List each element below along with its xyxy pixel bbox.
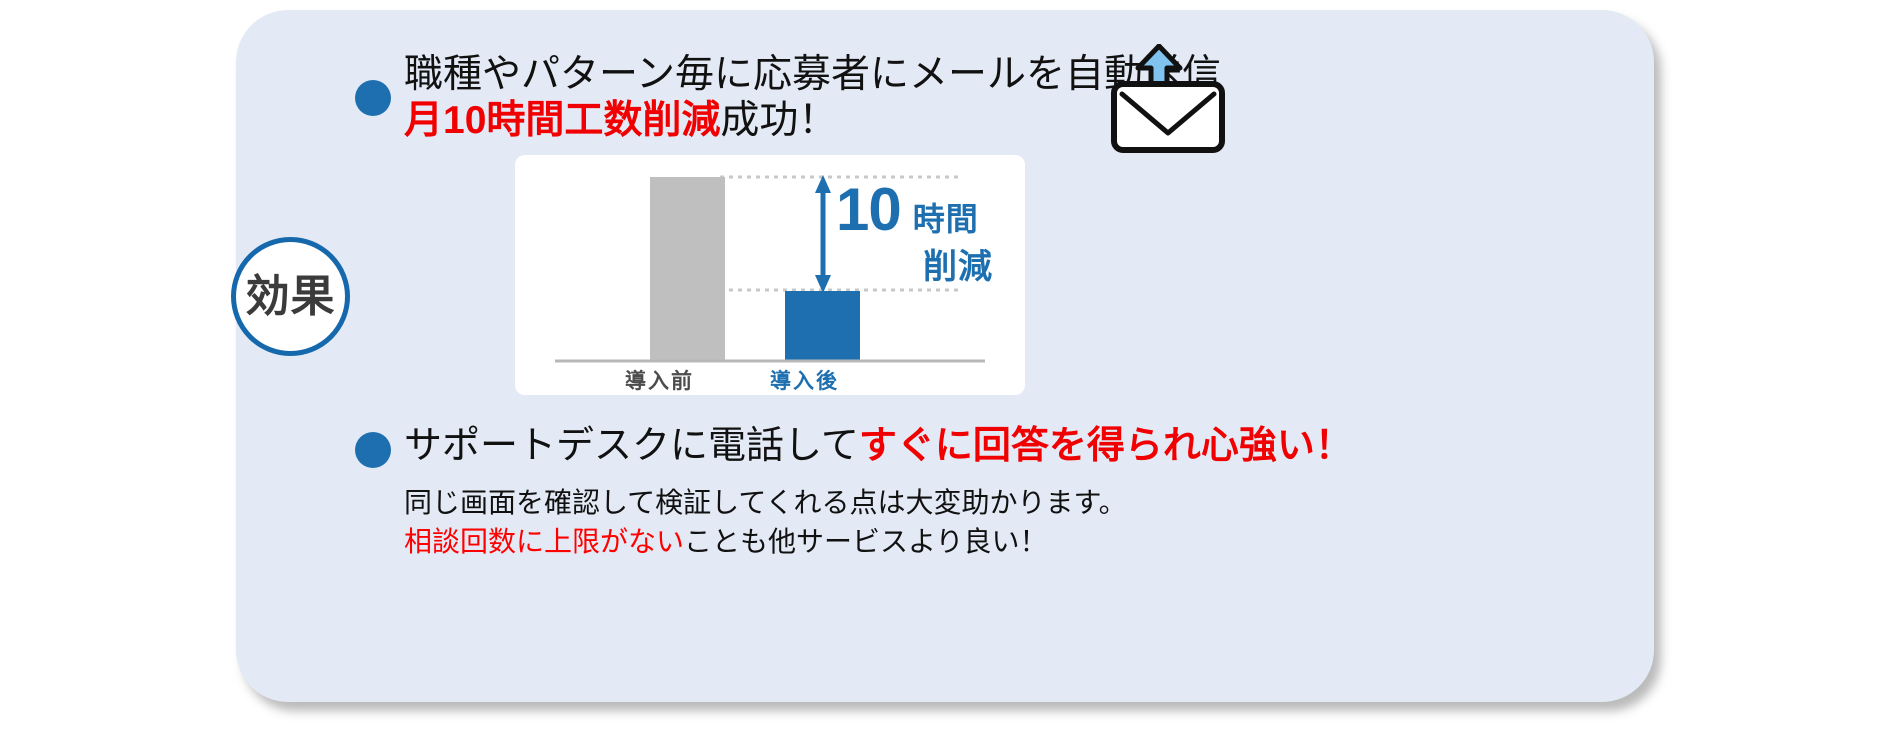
chart-category-label-before: 導入前 (625, 365, 694, 395)
reduction-value: 10 (836, 180, 901, 240)
testimonial-line-2-tail: ことも他サービスより良い！ (684, 526, 1047, 557)
bullet-1-line-2-tail: 成功！ (720, 99, 837, 142)
bullet-1-text-block: 職種やパターン毎に応募者にメールを自動送信 月10時間工数削減成功！ (404, 52, 1124, 144)
bullet-2-text-block: サポートデスクに電話してすぐに回答を得られ心強い！ (404, 424, 1353, 470)
bullet-2-line: サポートデスクに電話してすぐに回答を得られ心強い！ (404, 424, 1353, 470)
effect-badge: 効果 (231, 237, 350, 356)
reduction-word: 削減 (923, 248, 993, 286)
testimonial-line-2: 相談回数に上限がないことも他サービスより良い！ (404, 523, 1127, 562)
bullet-2-highlight: すぐに回答を得られ心強い！ (859, 425, 1353, 467)
effect-badge-label: 効果 (246, 275, 336, 319)
slide-canvas: 効果 職種やパターン毎に応募者にメールを自動送信 月10時間工数削減成功！ (0, 0, 1900, 730)
bullet-1-line-1: 職種やパターン毎に応募者にメールを自動送信 (404, 52, 1124, 98)
mail-upload-icon (1098, 44, 1246, 154)
bullet-dot-icon-1 (355, 80, 391, 116)
chart-category-label-after: 導入後 (770, 365, 839, 395)
bullet-dot-icon-2 (355, 432, 391, 468)
bullet-1-line-2: 月10時間工数削減成功！ (404, 98, 1124, 144)
testimonial-line-2-highlight: 相談回数に上限がない (404, 526, 684, 557)
reduction-callout-row-2: 削減 (836, 250, 1046, 284)
testimonial-sub-text: 同じ画面を確認して検証してくれる点は大変助かります。 相談回数に上限がないことも… (404, 484, 1127, 561)
bullet-2-plain: サポートデスクに電話して (404, 425, 859, 467)
reduction-callout: 10 時間 削減 (836, 180, 1046, 284)
reduction-callout-row-1: 10 時間 (836, 180, 1046, 240)
bullet-1-line-2-highlight: 月10時間工数削減 (404, 99, 720, 142)
reduction-unit: 時間 (913, 203, 979, 235)
testimonial-line-1: 同じ画面を確認して検証してくれる点は大変助かります。 (404, 484, 1127, 523)
